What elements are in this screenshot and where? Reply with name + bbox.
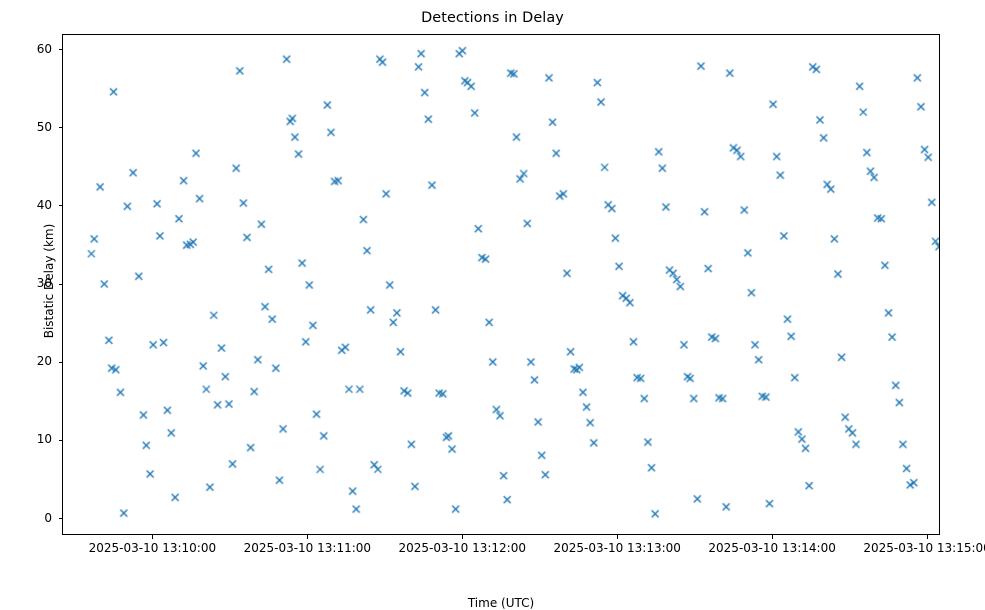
x-tick-mark xyxy=(307,535,308,539)
x-tick-label: 2025-03-10 13:15:00 xyxy=(837,541,985,555)
x-tick-label: 2025-03-10 13:11:00 xyxy=(217,541,397,555)
y-tick-mark xyxy=(59,440,63,441)
y-tick-mark xyxy=(59,518,63,519)
figure-canvas: Detections in Delay 0102030405060 2025-0… xyxy=(0,0,985,590)
x-tick-label: 2025-03-10 13:13:00 xyxy=(527,541,707,555)
y-tick-mark xyxy=(59,127,63,128)
y-tick-label: 50 xyxy=(0,120,52,134)
plot-axes-area xyxy=(62,34,940,535)
scatter-plot-canvas xyxy=(63,35,939,534)
y-tick-mark xyxy=(59,205,63,206)
x-tick-mark xyxy=(927,535,928,539)
x-tick-mark xyxy=(152,535,153,539)
y-axis-label: Bistatic Delay (km) xyxy=(42,181,56,381)
y-tick-mark xyxy=(59,284,63,285)
x-tick-label: 2025-03-10 13:12:00 xyxy=(372,541,552,555)
y-tick-mark xyxy=(59,49,63,50)
x-tick-mark xyxy=(617,535,618,539)
y-tick-label: 10 xyxy=(0,432,52,446)
x-tick-label: 2025-03-10 13:10:00 xyxy=(62,541,242,555)
y-tick-mark xyxy=(59,362,63,363)
chart-title: Detections in Delay xyxy=(0,10,985,26)
y-tick-label: 0 xyxy=(0,511,52,525)
y-tick-label: 60 xyxy=(0,42,52,56)
x-tick-mark xyxy=(462,535,463,539)
x-tick-label: 2025-03-10 13:14:00 xyxy=(682,541,862,555)
x-axis-label: Time (UTC) xyxy=(62,596,940,610)
x-tick-mark xyxy=(772,535,773,539)
